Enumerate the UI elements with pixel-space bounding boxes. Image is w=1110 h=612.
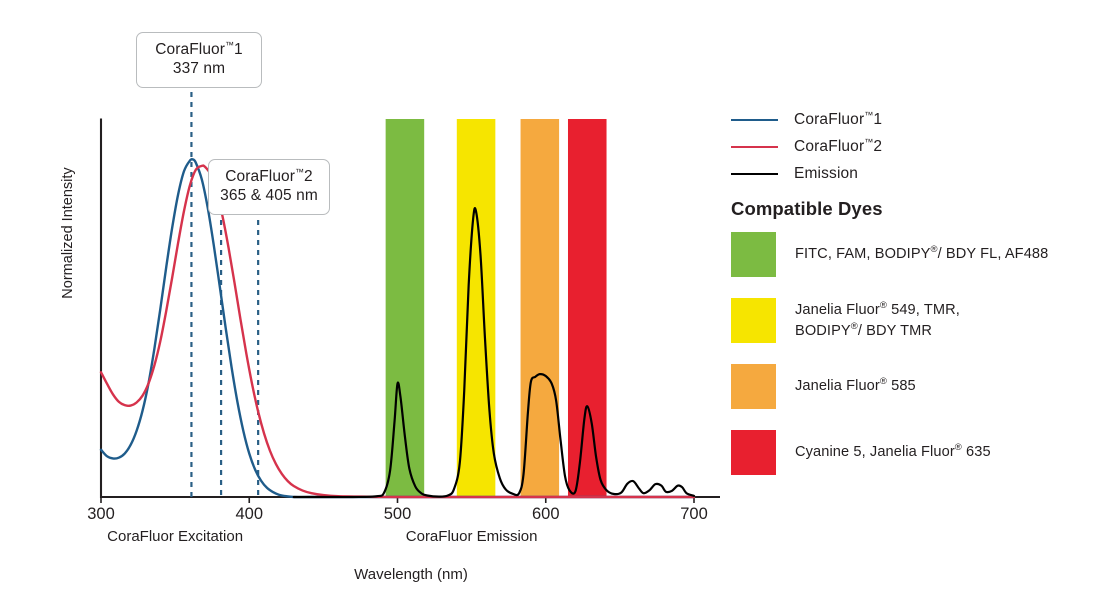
- dye-color-swatch: [731, 430, 776, 475]
- dye-row: Janelia Fluor® 549, TMR,BODIPY®/ BDY TMR: [731, 298, 1106, 343]
- dye-color-swatch: [731, 298, 776, 343]
- dye-label-line1: Janelia Fluor® 549, TMR,: [795, 300, 960, 320]
- callout2-wavelength: 365 & 405 nm: [219, 187, 319, 206]
- dye-label-line1: Janelia Fluor® 585: [795, 376, 916, 396]
- legend-item-label: CoraFluor™1: [794, 110, 882, 129]
- series-legend: CoraFluor™1CoraFluor™2Emission: [731, 106, 1103, 187]
- dye-label: Janelia Fluor® 549, TMR,BODIPY®/ BDY TMR: [795, 300, 960, 341]
- dye-text: / BDY TMR: [858, 322, 932, 338]
- legend-line-swatch: [731, 146, 778, 148]
- callout-corafluor2: CoraFluor™2 365 & 405 nm: [208, 159, 330, 215]
- section-label-emission: CoraFluor Emission: [362, 528, 582, 545]
- callout1-wavelength: 337 nm: [147, 60, 251, 79]
- dye-label-line1: Cyanine 5, Janelia Fluor® 635: [795, 442, 991, 462]
- dye-row: Janelia Fluor® 585: [731, 364, 1106, 409]
- legend-index: 2: [873, 138, 882, 155]
- registered-icon: ®: [955, 442, 962, 453]
- registered-icon: ®: [880, 376, 887, 387]
- legend-item-label: CoraFluor™2: [794, 137, 882, 156]
- callout2-index: 2: [304, 168, 313, 185]
- dye-text: BODIPY: [795, 322, 851, 338]
- dye-label: FITC, FAM, BODIPY®/ BDY FL, AF488: [795, 244, 1048, 264]
- trademark-icon: ™: [225, 40, 234, 50]
- dye-label: Janelia Fluor® 585: [795, 376, 916, 396]
- trademark-icon: ™: [295, 167, 304, 177]
- dye-label-line2: BODIPY®/ BDY TMR: [795, 321, 960, 341]
- dye-text: 635: [962, 444, 991, 460]
- red-band: [568, 119, 607, 497]
- callout-corafluor1: CoraFluor™1 337 nm: [136, 32, 262, 88]
- dye-text: Cyanine 5, Janelia Fluor: [795, 444, 955, 460]
- x-tick-label-500: 500: [368, 505, 428, 524]
- dye-text: FITC, FAM, BODIPY: [795, 246, 931, 262]
- dye-color-swatch: [731, 232, 776, 277]
- registered-icon: ®: [851, 321, 858, 332]
- legend-item-emission: Emission: [731, 160, 1103, 187]
- legend-item-label: Emission: [794, 165, 858, 183]
- legend-item-corafluor1: CoraFluor™1: [731, 106, 1103, 133]
- x-tick-label-600: 600: [516, 505, 576, 524]
- dye-row: Cyanine 5, Janelia Fluor® 635: [731, 430, 1106, 475]
- legend-index: 1: [873, 111, 882, 128]
- x-tick-label-300: 300: [71, 505, 131, 524]
- callout2-name: CoraFluor: [225, 168, 295, 185]
- dye-label: Cyanine 5, Janelia Fluor® 635: [795, 442, 991, 462]
- x-tick-label-700: 700: [664, 505, 724, 524]
- legend-line-swatch: [731, 173, 778, 175]
- compatible-dyes-list: FITC, FAM, BODIPY®/ BDY FL, AF488Janelia…: [731, 232, 1106, 496]
- dye-text: 549, TMR,: [887, 302, 960, 318]
- compatible-dyes-title: Compatible Dyes: [731, 198, 883, 220]
- callout1-name: CoraFluor: [155, 41, 225, 58]
- dye-text: 585: [887, 378, 916, 394]
- x-axis-title: Wavelength (nm): [291, 566, 531, 583]
- legend-item-corafluor2: CoraFluor™2: [731, 133, 1103, 160]
- y-axis-title: Normalized Intensity: [60, 143, 76, 323]
- x-tick-label-400: 400: [219, 505, 279, 524]
- legend-name: CoraFluor: [794, 138, 864, 155]
- legend-name: Emission: [794, 165, 858, 182]
- registered-icon: ®: [931, 244, 938, 255]
- callout1-index: 1: [234, 41, 243, 58]
- dye-row: FITC, FAM, BODIPY®/ BDY FL, AF488: [731, 232, 1106, 277]
- dye-text: / BDY FL, AF488: [938, 246, 1049, 262]
- dye-label-line1: FITC, FAM, BODIPY®/ BDY FL, AF488: [795, 244, 1048, 264]
- dye-color-swatch: [731, 364, 776, 409]
- dye-text: Janelia Fluor: [795, 302, 880, 318]
- legend-line-swatch: [731, 119, 778, 121]
- section-label-excitation: CoraFluor Excitation: [65, 528, 285, 545]
- registered-icon: ®: [880, 300, 887, 311]
- spectral-chart-figure: CoraFluor™1 337 nm CoraFluor™2 365 & 405…: [0, 0, 1110, 612]
- dye-text: Janelia Fluor: [795, 378, 880, 394]
- legend-name: CoraFluor: [794, 111, 864, 128]
